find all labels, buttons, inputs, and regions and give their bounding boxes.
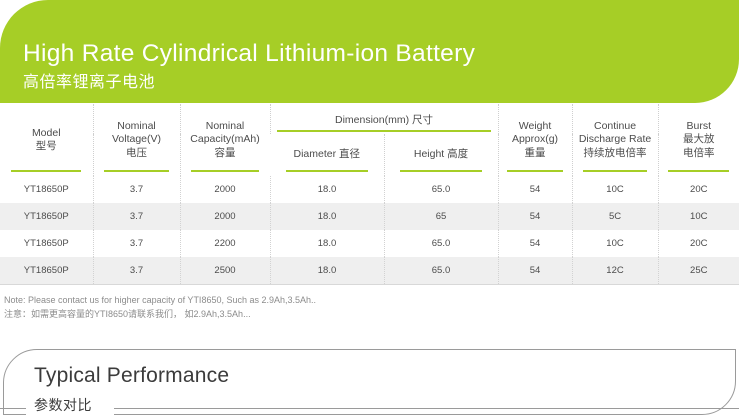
table-group-header-row: Model 型号 Nominal Voltage(V) 电压 Nominal C… [0, 104, 739, 134]
product-spec-page: High Rate Cylindrical Lithium-ion Batter… [0, 0, 739, 419]
header-underline [277, 130, 490, 133]
cell-weight: 54 [498, 203, 572, 230]
cell-voltage: 3.7 [93, 257, 180, 284]
page-title: High Rate Cylindrical Lithium-ion Batter… [23, 42, 475, 67]
cell-burst: 25C [658, 257, 739, 284]
table-row: YT18650P 3.7 2000 18.0 65 54 5C 10C [0, 203, 739, 230]
cell-model: YT18650P [0, 176, 93, 203]
column-header-continuous-en1: Continue [573, 120, 658, 133]
column-header-voltage-en2: Voltage(V) [94, 133, 180, 146]
column-header-capacity-en1: Nominal [181, 120, 270, 133]
note-line-cn: 注意：如需更高容量的YTI8650请联系我们， 如2.9Ah,3.5Ah... [4, 308, 604, 322]
note-line-en: Note: Please contact us for higher capac… [4, 294, 604, 308]
cell-voltage: 3.7 [93, 176, 180, 203]
column-header-voltage-en1: Nominal [94, 120, 180, 133]
column-header-model-en: Model [0, 127, 93, 140]
column-header-weight: Weight Approx(g) 重量 [498, 104, 572, 176]
cell-height: 65.0 [384, 257, 498, 284]
column-header-model: Model 型号 [0, 104, 93, 176]
column-group-header-dimension: Dimension(mm) 尺寸 [270, 104, 498, 134]
cell-model: YT18650P [0, 230, 93, 257]
header-underline [104, 170, 169, 173]
column-header-height: Height 高度 [384, 134, 498, 176]
cell-height: 65.0 [384, 230, 498, 257]
cell-capacity: 2000 [180, 176, 270, 203]
column-header-continuous-en2: Discharge Rate [573, 133, 658, 146]
cell-voltage: 3.7 [93, 230, 180, 257]
column-header-capacity-en2: Capacity(mAh) [181, 133, 270, 146]
cell-model: YT18650P [0, 257, 93, 284]
cell-capacity: 2000 [180, 203, 270, 230]
header-underline [286, 170, 368, 173]
header-underline [668, 170, 729, 173]
table-note: Note: Please contact us for higher capac… [4, 294, 604, 322]
header-underline [11, 170, 81, 173]
header-underline [400, 170, 481, 173]
cell-weight: 54 [498, 176, 572, 203]
section-title-chinese: 参数对比 [34, 398, 98, 412]
column-header-model-cn: 型号 [0, 140, 93, 153]
column-header-burst-cn2: 电倍率 [659, 147, 739, 160]
section-title: Typical Performance [34, 365, 229, 386]
column-header-continuous-discharge-rate: Continue Discharge Rate 持续放电倍率 [572, 104, 658, 176]
column-header-weight-en1: Weight [499, 120, 572, 133]
column-header-diameter-cn: 直径 [339, 148, 360, 160]
cell-diameter: 18.0 [270, 176, 384, 203]
cell-height: 65.0 [384, 176, 498, 203]
cell-height: 65 [384, 203, 498, 230]
cell-burst: 20C [658, 176, 739, 203]
cell-burst: 10C [658, 203, 739, 230]
cell-diameter: 18.0 [270, 203, 384, 230]
cell-diameter: 18.0 [270, 257, 384, 284]
table-row: YT18650P 3.7 2200 18.0 65.0 54 10C 20C [0, 230, 739, 257]
cell-diameter: 18.0 [270, 230, 384, 257]
cell-continuous-discharge: 10C [572, 230, 658, 257]
cell-burst: 20C [658, 230, 739, 257]
column-header-burst-en: Burst [659, 120, 739, 133]
cell-continuous-discharge: 5C [572, 203, 658, 230]
cell-weight: 54 [498, 257, 572, 284]
cell-weight: 54 [498, 230, 572, 257]
table-row: YT18650P 3.7 2500 18.0 65.0 54 12C 25C [0, 257, 739, 284]
specification-table: Model 型号 Nominal Voltage(V) 电压 Nominal C… [0, 104, 739, 285]
column-header-weight-cn: 重量 [499, 147, 572, 160]
header-underline [583, 170, 648, 173]
column-header-nominal-voltage: Nominal Voltage(V) 电压 [93, 104, 180, 176]
page-header-banner: High Rate Cylindrical Lithium-ion Batter… [0, 0, 739, 103]
cell-continuous-discharge: 10C [572, 176, 658, 203]
column-header-burst: Burst 最大放 电倍率 [658, 104, 739, 176]
column-header-voltage-cn: 电压 [94, 147, 180, 160]
cell-capacity: 2500 [180, 257, 270, 284]
header-underline [191, 170, 259, 173]
cell-capacity: 2200 [180, 230, 270, 257]
column-header-nominal-capacity: Nominal Capacity(mAh) 容量 [180, 104, 270, 176]
column-header-weight-en2: Approx(g) [499, 133, 572, 146]
column-header-height-en: Height [414, 148, 444, 160]
cell-voltage: 3.7 [93, 203, 180, 230]
column-header-diameter-en: Diameter [293, 148, 336, 160]
column-header-burst-cn1: 最大放 [659, 133, 739, 146]
column-group-header-dimension-label: Dimension(mm) 尺寸 [335, 114, 433, 126]
column-header-continuous-cn: 持续放电倍率 [573, 147, 658, 160]
column-header-diameter: Diameter 直径 [270, 134, 384, 176]
column-header-height-cn: 高度 [447, 148, 468, 160]
column-header-capacity-cn: 容量 [181, 147, 270, 160]
page-title-chinese: 高倍率锂离子电池 [23, 75, 155, 91]
cell-continuous-discharge: 12C [572, 257, 658, 284]
header-underline [507, 170, 563, 173]
cell-model: YT18650P [0, 203, 93, 230]
table-row: YT18650P 3.7 2000 18.0 65.0 54 10C 20C [0, 176, 739, 203]
